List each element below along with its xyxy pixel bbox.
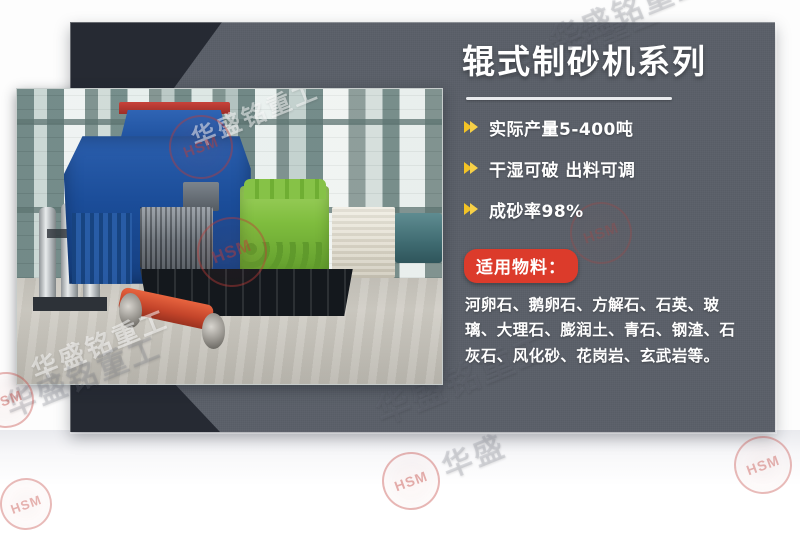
feature-item-3: 成砂率98% bbox=[464, 197, 762, 222]
page-title: 辊式制砂机系列 bbox=[462, 44, 762, 80]
hsm-logo-text: HSM bbox=[0, 387, 25, 414]
grey-electric-motor bbox=[140, 207, 212, 269]
page-bottom-gradient bbox=[0, 430, 800, 486]
gas-cylinder-1 bbox=[39, 207, 56, 299]
poster-stage: 华盛铭重工 华盛铭重工 HSM 辊式制砂机系列 实际产量5-400吨 干湿可破 … bbox=[0, 0, 800, 486]
photo-scene: 华盛铭重工 华盛铭重工 HSM HSM bbox=[17, 89, 442, 384]
product-photo: 华盛铭重工 华盛铭重工 HSM HSM bbox=[16, 88, 443, 385]
chevron-right-icon bbox=[464, 120, 481, 135]
gearbox-bolt-row bbox=[242, 242, 327, 272]
feature-label-1: 实际产量5-400吨 bbox=[489, 115, 633, 140]
materials-badge: 适用物料： bbox=[464, 249, 578, 283]
feature-item-2: 干湿可破 出料可调 bbox=[464, 156, 762, 181]
feature-item-1: 实际产量5-400吨 bbox=[464, 115, 762, 140]
teal-drum bbox=[395, 213, 442, 263]
chevron-right-icon bbox=[464, 161, 481, 176]
hsm-logo-text: HSM bbox=[8, 492, 43, 517]
materials-text: 河卵石、鹅卵石、方解石、石英、玻璃、大理石、膨润土、青石、钢渣、石灰石、风化砂、… bbox=[465, 293, 751, 368]
cylinder-rack bbox=[33, 297, 107, 311]
feature-label-2: 干湿可破 出料可调 bbox=[489, 156, 635, 181]
feature-label-3: 成砂率98% bbox=[489, 197, 584, 222]
chevron-right-icon bbox=[464, 202, 481, 217]
panel-content: 辊式制砂机系列 实际产量5-400吨 干湿可破 出料可调 成砂率98% 适用物料… bbox=[462, 44, 762, 369]
shaft-flange-right bbox=[202, 313, 225, 348]
title-divider bbox=[466, 97, 672, 100]
cream-control-cabinet bbox=[332, 207, 396, 278]
wall-beam-upper bbox=[17, 119, 442, 125]
crusher-side-ribs bbox=[72, 213, 132, 284]
